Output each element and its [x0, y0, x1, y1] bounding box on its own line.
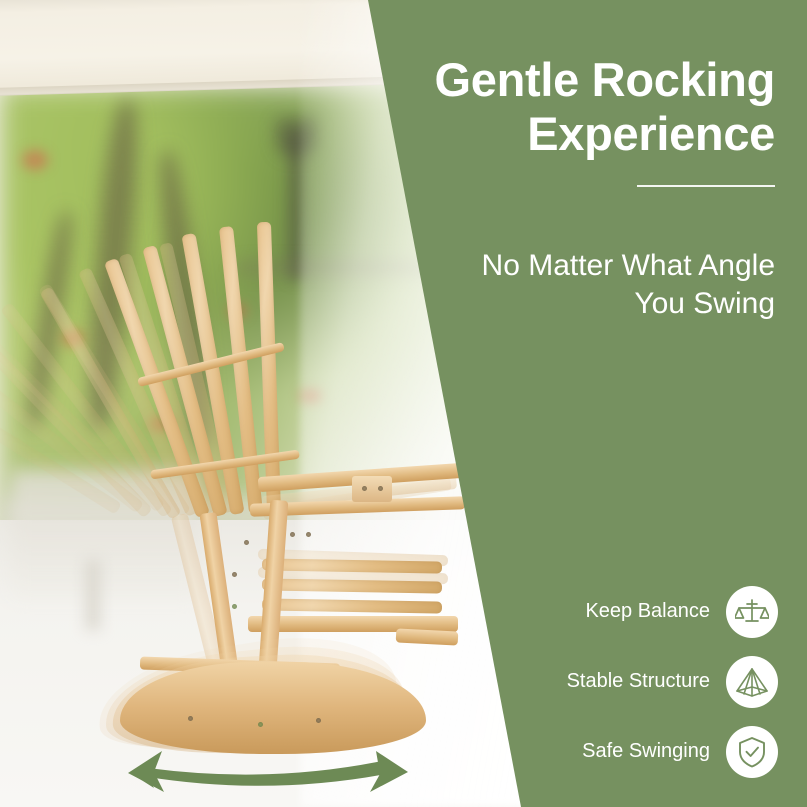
screw [316, 718, 321, 723]
feature-list: Keep Balance Stable Structure [438, 584, 778, 779]
screw [188, 716, 193, 721]
armrest-bracket [352, 476, 392, 502]
subtitle-line-1: No Matter What Angle [482, 249, 775, 282]
screw [258, 722, 263, 727]
seat-slat [262, 598, 442, 613]
feature-item-keep-balance: Keep Balance [438, 584, 778, 639]
product-feature-banner: Gentle Rocking Experience No Matter What… [0, 0, 807, 807]
rocker-base [120, 662, 426, 754]
feature-label: Keep Balance [585, 600, 710, 623]
pyramid-icon [726, 656, 778, 708]
feature-label: Safe Swinging [582, 740, 710, 763]
backrest-slat [257, 222, 281, 514]
feature-item-safe-swinging: Safe Swinging [438, 724, 778, 779]
screw [232, 572, 237, 577]
rocking-motion-arrow [118, 748, 418, 800]
screw [232, 604, 237, 609]
screw [244, 540, 249, 545]
screw [362, 486, 367, 491]
subtitle-line-2: You Swing [634, 287, 775, 320]
subtitle: No Matter What Angle You Swing [375, 247, 775, 323]
headline-line-2: Experience [527, 107, 775, 160]
page-title: Gentle Rocking Experience [355, 53, 775, 159]
divider-rule [637, 185, 775, 187]
screw [378, 486, 383, 491]
shield-check-icon [726, 726, 778, 778]
headline-line-1: Gentle Rocking [434, 53, 775, 106]
screw [306, 532, 311, 537]
screw [290, 532, 295, 537]
feature-label: Stable Structure [567, 670, 710, 693]
balance-scales-icon [726, 586, 778, 638]
seat-slat [262, 578, 442, 593]
feature-item-stable-structure: Stable Structure [438, 654, 778, 709]
